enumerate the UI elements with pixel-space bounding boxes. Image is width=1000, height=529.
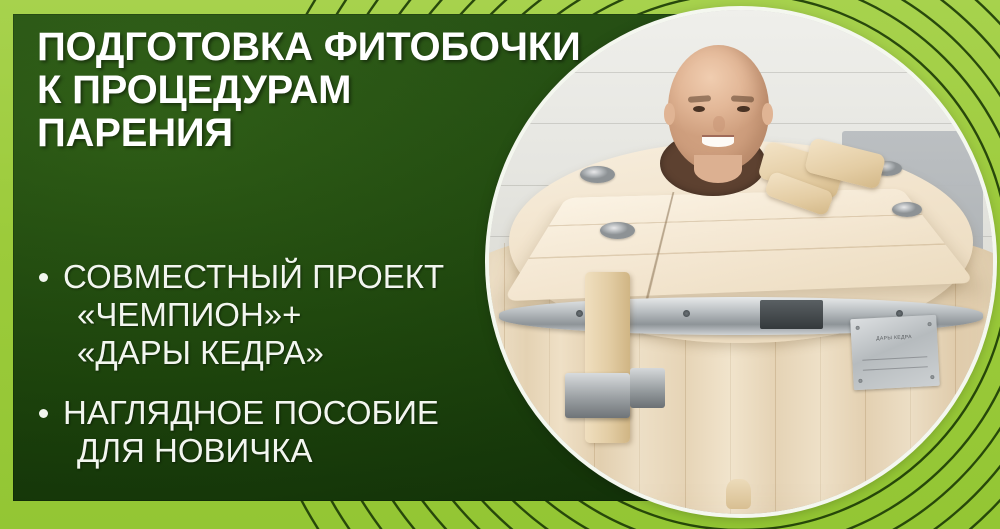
ear-left: [664, 103, 675, 124]
list-item: СОВМЕСТНЫЙ ПРОЕКТ «ЧЕМПИОН»+ «ДАРЫ КЕДРА…: [35, 258, 555, 372]
feature-bullet-list: СОВМЕСТНЫЙ ПРОЕКТ «ЧЕМПИОН»+ «ДАРЫ КЕДРА…: [35, 258, 555, 492]
lid-hinge-knob: [892, 202, 922, 217]
person-head: [668, 45, 769, 171]
brand-nameplate: ДАРЫ КЕДРА: [850, 315, 939, 390]
list-item: НАГЛЯДНОЕ ПОСОБИЕ ДЛЯ НОВИЧКА: [35, 394, 555, 470]
eye-left: [693, 106, 705, 112]
metal-latch-secondary: [630, 368, 665, 408]
promo-poster: ПОДГОТОВКА ФИТОБОЧКИ К ПРОЦЕДУРАМ ПАРЕНИ…: [0, 0, 1000, 529]
lid-plank-line: [529, 244, 946, 260]
bullet-1-line-3: «ДАРЫ КЕДРА»: [77, 334, 555, 372]
lid-hinge-knob: [600, 222, 635, 239]
ear-right: [762, 103, 773, 124]
metal-latch: [565, 373, 631, 418]
smiling-mouth: [702, 137, 734, 147]
lid-seam: [645, 192, 674, 302]
nose: [713, 116, 725, 132]
bullet-1-line-2: «ЧЕМПИОН»+: [77, 296, 555, 334]
circular-photo: ДАРЫ КЕДРА: [489, 10, 993, 514]
bullet-dot-icon: [39, 409, 48, 418]
wooden-peg: [726, 479, 751, 509]
eyebrow-left: [688, 95, 712, 103]
hoop-clamp-plate: [760, 300, 823, 329]
bullet-dot-icon: [39, 273, 48, 282]
bullet-2-line-1: НАГЛЯДНОЕ ПОСОБИЕ: [63, 394, 555, 432]
bullet-2-line-2: ДЛЯ НОВИЧКА: [77, 432, 555, 470]
bullet-1-line-1: СОВМЕСТНЫЙ ПРОЕКТ: [63, 258, 555, 296]
nameplate-text: ДАРЫ КЕДРА: [860, 334, 929, 345]
eyebrow-right: [731, 95, 754, 103]
chin: [694, 155, 742, 183]
eye-right: [737, 106, 749, 112]
photo-scene: ДАРЫ КЕДРА: [489, 10, 993, 514]
